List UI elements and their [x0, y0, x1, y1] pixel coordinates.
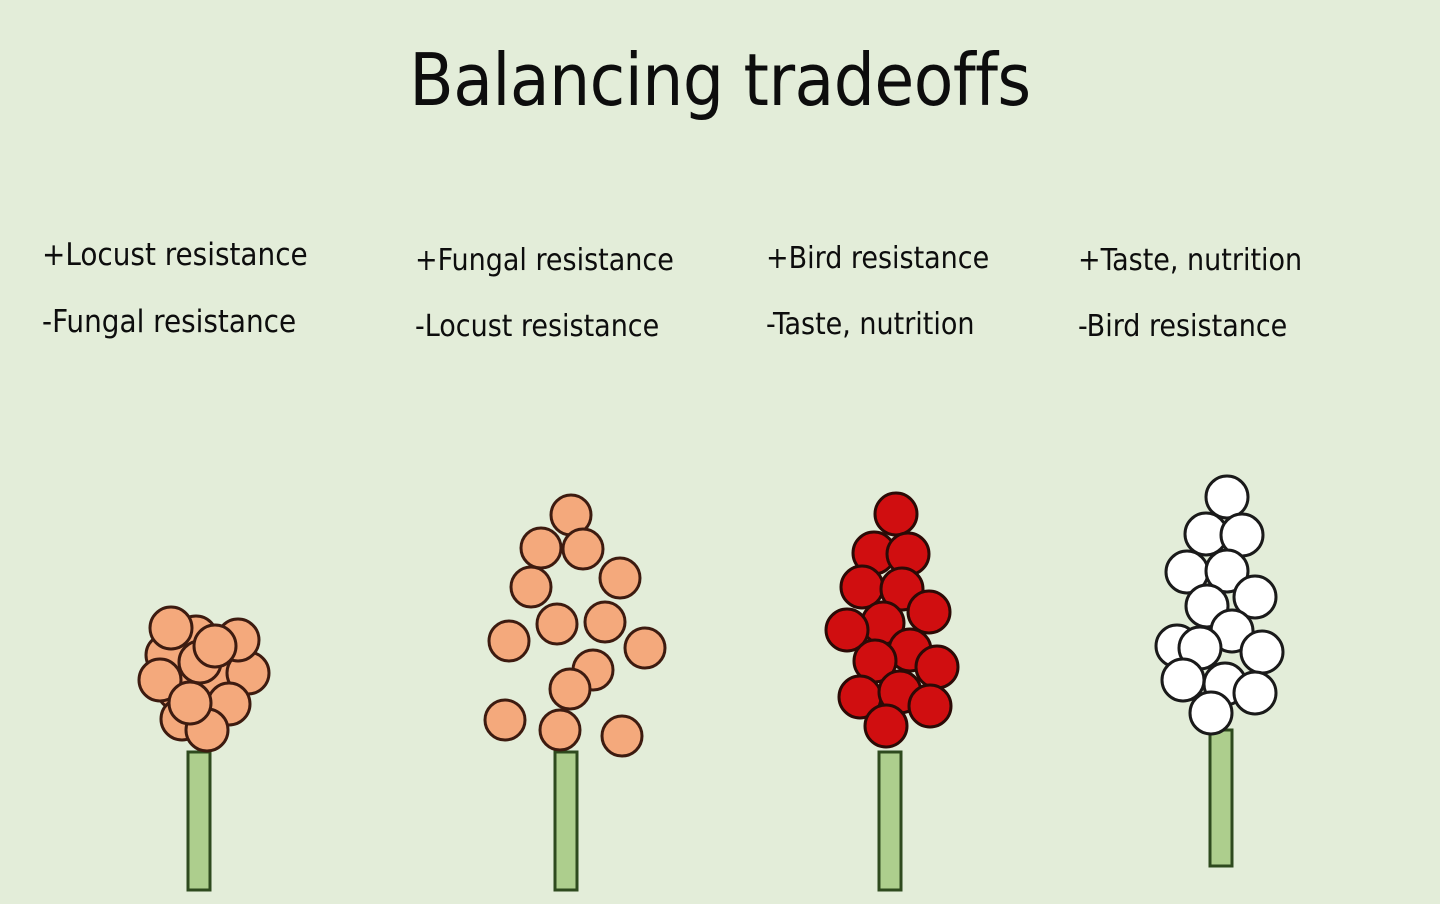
plant-diagram	[0, 0, 1440, 904]
plant-grain	[600, 558, 640, 598]
plant-locust-resistant	[139, 607, 269, 890]
plant-grain	[550, 669, 590, 709]
plant-grain	[563, 529, 603, 569]
plant-grain	[1234, 672, 1276, 714]
plant-grain	[169, 682, 211, 724]
plant-grain	[485, 700, 525, 740]
plant-grain	[916, 646, 958, 688]
plant-grain	[909, 685, 951, 727]
plant-fungal-resistant	[485, 495, 665, 890]
plant-stem	[555, 752, 577, 890]
plant-illustrations	[0, 0, 1440, 904]
plant-stem	[1210, 730, 1232, 866]
plant-grain	[511, 567, 551, 607]
plant-grain	[602, 716, 642, 756]
plant-grain	[875, 493, 917, 535]
plant-grain	[1206, 476, 1248, 518]
plant-grain	[489, 621, 529, 661]
plant-grain	[585, 602, 625, 642]
plants-group	[139, 476, 1283, 890]
plant-grain	[908, 591, 950, 633]
plant-grain	[1241, 631, 1283, 673]
plant-grain	[1190, 692, 1232, 734]
plant-grain	[540, 710, 580, 750]
slide-canvas: Balancing tradeoffs +Locust resistance -…	[0, 0, 1440, 904]
plant-grain	[1162, 659, 1204, 701]
plant-grain	[194, 625, 236, 667]
plant-bird-resistant	[826, 493, 958, 890]
plant-grain	[150, 607, 192, 649]
plant-tasty-nutritious	[1156, 476, 1283, 866]
plant-grain	[865, 705, 907, 747]
plant-grain	[625, 628, 665, 668]
plant-grain	[537, 604, 577, 644]
plant-grain	[521, 528, 561, 568]
plant-stem	[879, 752, 901, 890]
plant-stem	[188, 752, 210, 890]
